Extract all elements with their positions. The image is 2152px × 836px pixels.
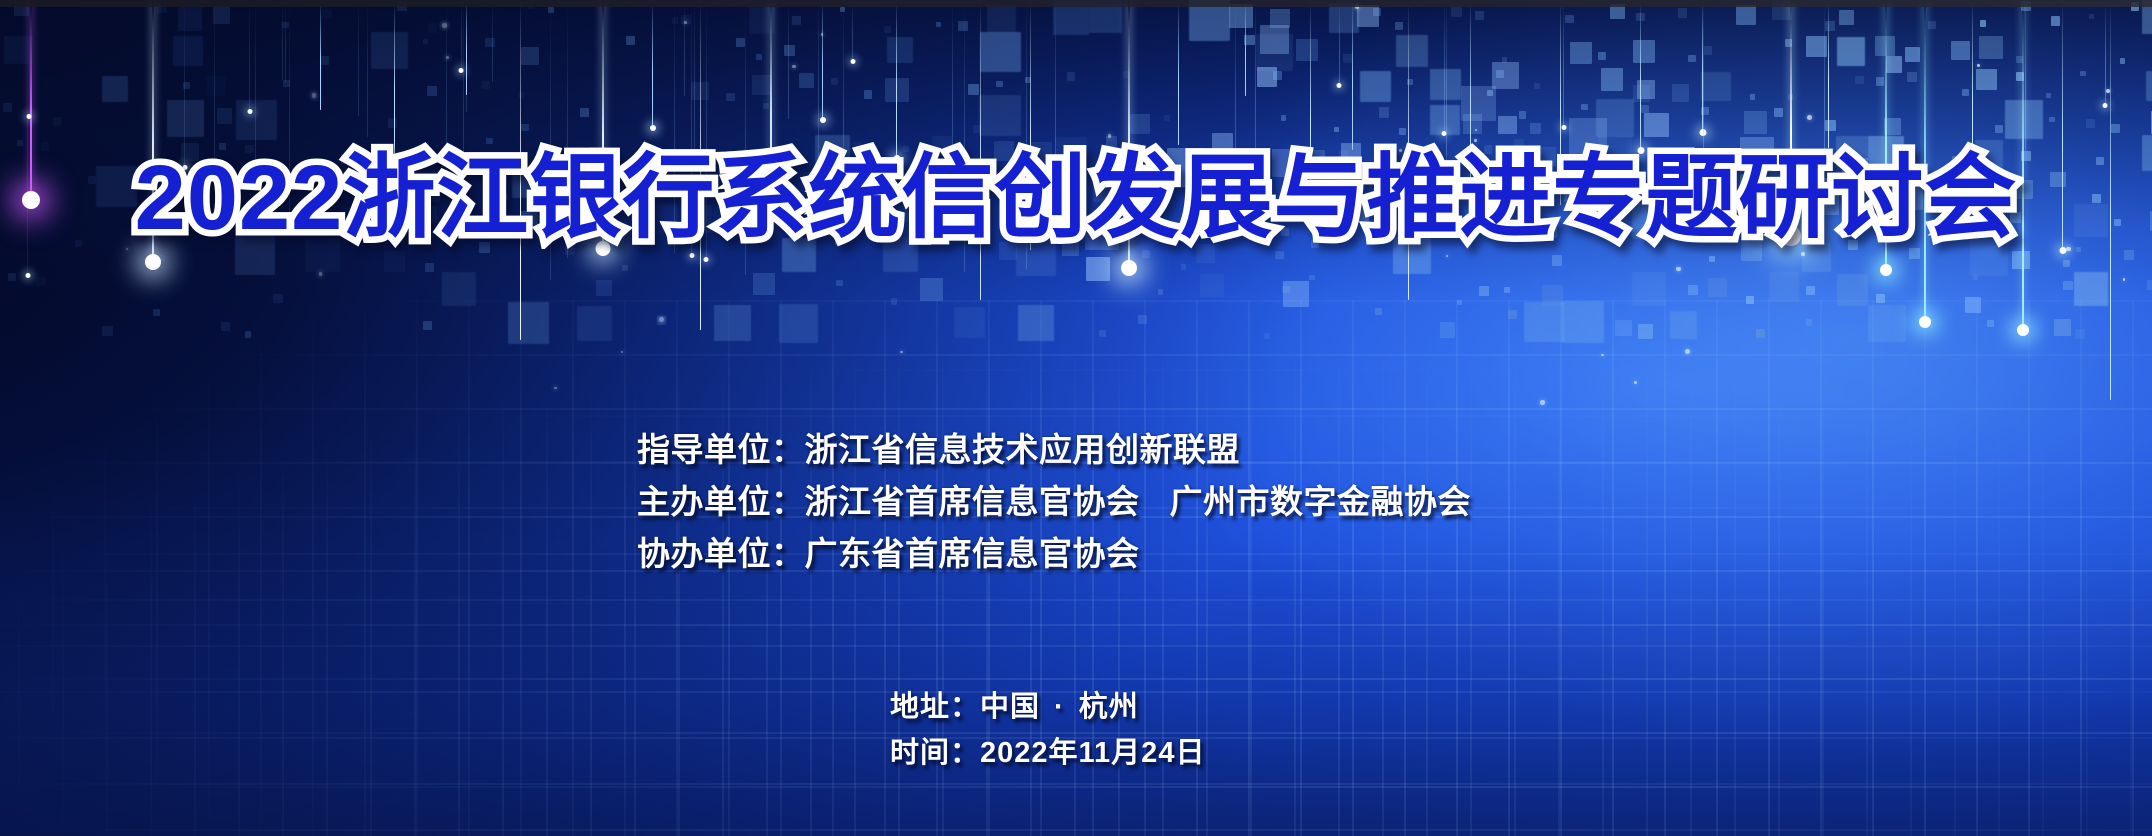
location-city: 杭州 — [1079, 691, 1139, 723]
organizer-value-host: 浙江省首席信息官协会 — [805, 483, 1140, 520]
organizer-label-guidance: 指导单位： — [637, 431, 805, 468]
location-country: 中国 — [980, 691, 1040, 723]
organizer-value-cohost: 广东省首席信息官协会 — [805, 535, 1140, 572]
date-label: 时间： — [890, 737, 980, 769]
event-meta-block: 地址：中国·杭州 时间：2022年11月24日 — [890, 684, 1205, 776]
organizer-value-guidance: 浙江省信息技术应用创新联盟 — [805, 431, 1241, 468]
poster-title: 2022浙江银行系统信创发展与推进专题研讨会 — [0, 152, 2152, 246]
event-date-line: 时间：2022年11月24日 — [890, 730, 1205, 776]
organizer-line-guidance: 指导单位：浙江省信息技术应用创新联盟 — [637, 424, 1471, 476]
location-separator: · — [1040, 684, 1079, 730]
organizer-line-host: 主办单位：浙江省首席信息官协会广州市数字金融协会 — [637, 476, 1471, 528]
date-value: 2022年11月24日 — [980, 737, 1205, 769]
poster-canvas: 2022浙江银行系统信创发展与推进专题研讨会 指导单位：浙江省信息技术应用创新联… — [0, 0, 2152, 836]
event-location-line: 地址：中国·杭州 — [890, 684, 1205, 730]
organizer-label-host: 主办单位： — [637, 483, 805, 520]
organizer-line-cohost: 协办单位：广东省首席信息官协会 — [637, 528, 1471, 580]
organizer-value-host-2: 广州市数字金融协会 — [1170, 483, 1472, 520]
poster-content: 2022浙江银行系统信创发展与推进专题研讨会 指导单位：浙江省信息技术应用创新联… — [0, 0, 2152, 836]
location-label: 地址： — [890, 691, 980, 723]
organizer-label-cohost: 协办单位： — [637, 535, 805, 572]
organizer-block: 指导单位：浙江省信息技术应用创新联盟 主办单位：浙江省首席信息官协会广州市数字金… — [637, 424, 1471, 580]
